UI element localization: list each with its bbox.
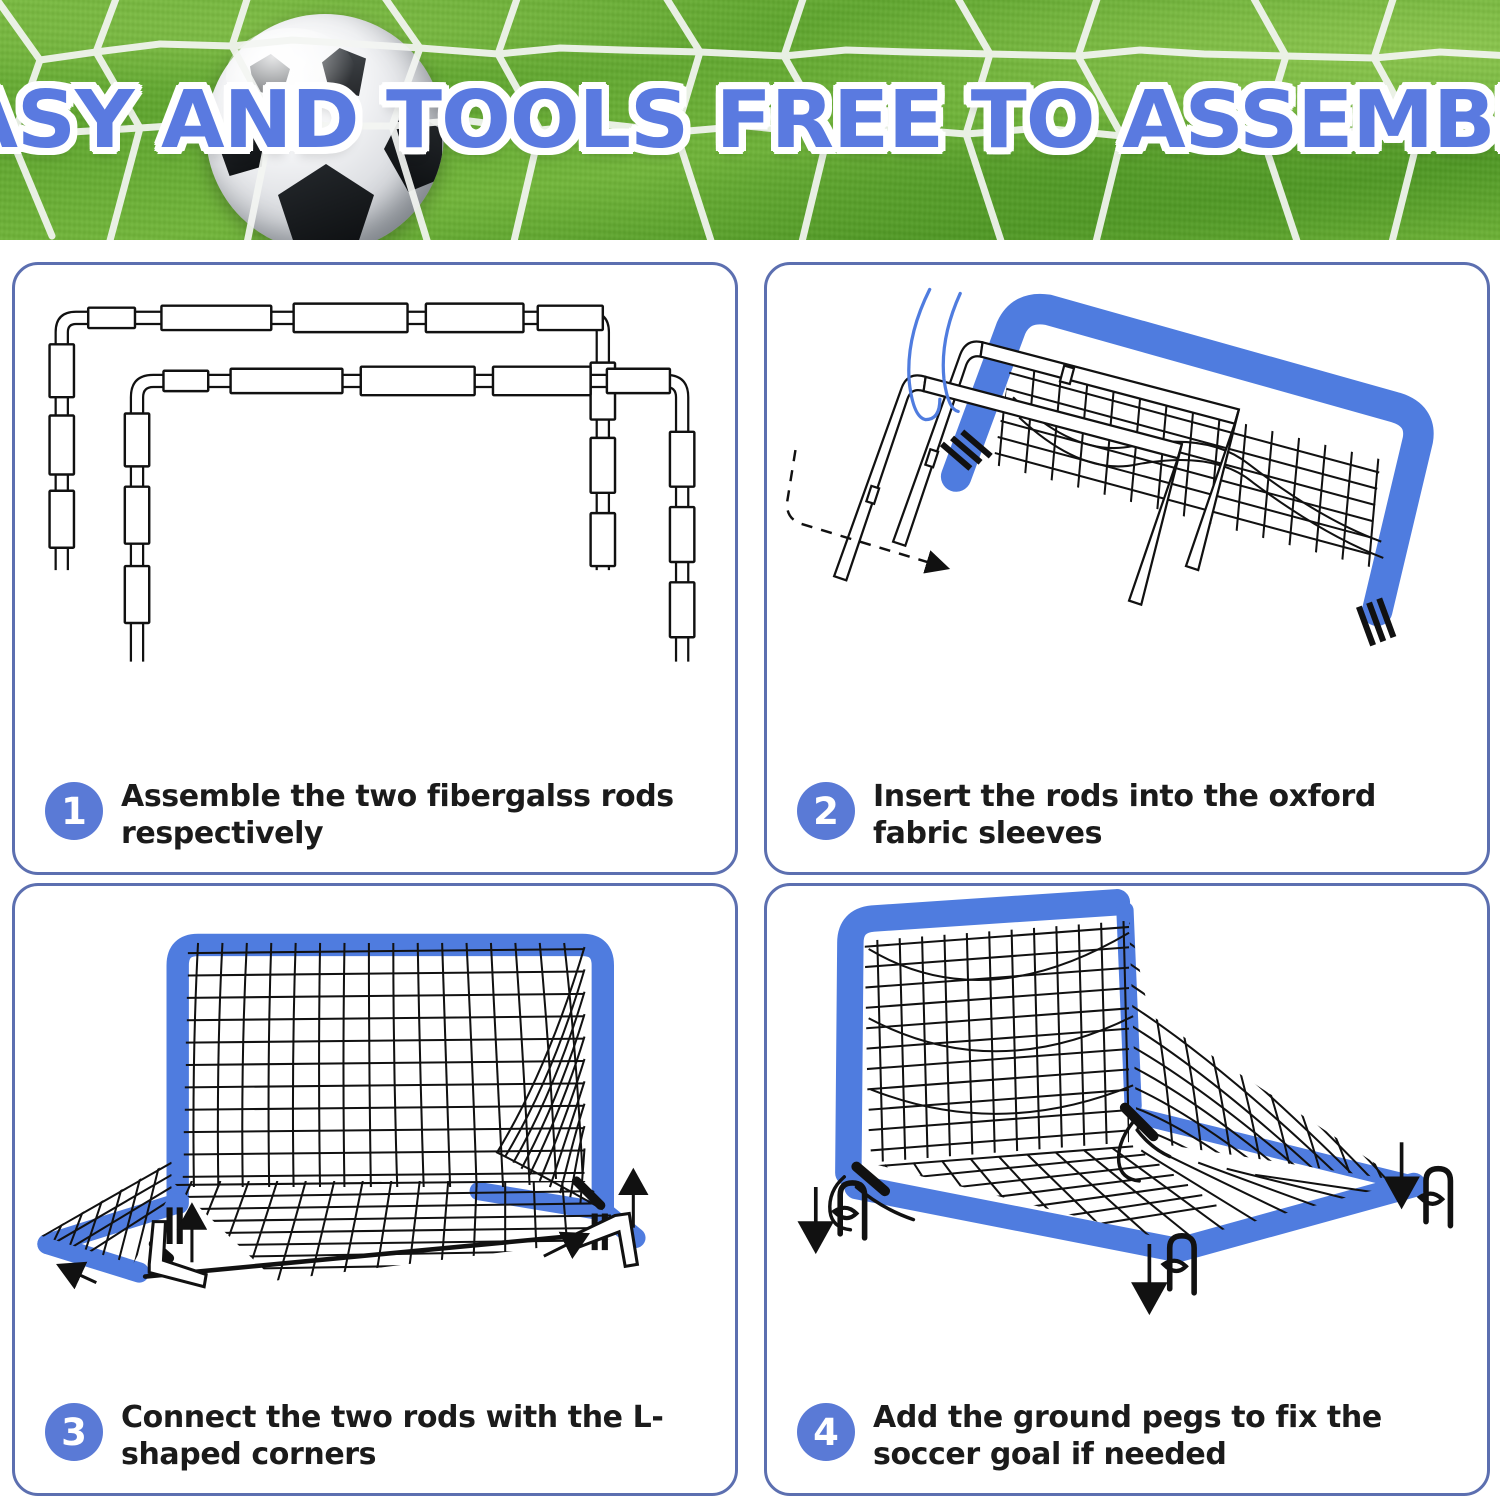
fiberglass-rods-diagram [15,265,735,743]
insert-rods-into-sleeves-diagram [767,265,1487,743]
ground-pegs-diagram [767,886,1487,1364]
page-title: EASY AND TOOLS FREE TO ASSEMBLE [0,74,1500,166]
step-badge-1: 1 [45,782,103,840]
step-caption-4: 4 Add the ground pegs to fix the soccer … [797,1400,1469,1473]
step-text-4: Add the ground pegs to fix the soccer go… [873,1400,1433,1473]
step-badge-2: 2 [797,782,855,840]
step-caption-3: 3 Connect the two rods with the L-shaped… [45,1400,717,1473]
step-panel-4: 4 Add the ground pegs to fix the soccer … [764,883,1490,1496]
step-badge-3: 3 [45,1403,103,1461]
step-text-2: Insert the rods into the oxford fabric s… [873,779,1433,852]
step-panel-1: 1 Assemble the two fibergalss rods respe… [12,262,738,875]
step-panel-3: 3 Connect the two rods with the L-shaped… [12,883,738,1496]
steps-grid: 1 Assemble the two fibergalss rods respe… [0,240,1500,1468]
step-badge-4: 4 [797,1403,855,1461]
step-caption-1: 1 Assemble the two fibergalss rods respe… [45,779,717,852]
step-caption-2: 2 Insert the rods into the oxford fabric… [797,779,1469,852]
connect-rods-l-corners-diagram [15,886,735,1364]
step-panel-2: 2 Insert the rods into the oxford fabric… [764,262,1490,875]
hero-banner: EASY AND TOOLS FREE TO ASSEMBLE [0,0,1500,240]
step-text-1: Assemble the two fibergalss rods respect… [121,779,681,852]
hero-headline-wrap: EASY AND TOOLS FREE TO ASSEMBLE [0,0,1500,240]
step-text-3: Connect the two rods with the L-shaped c… [121,1400,681,1473]
